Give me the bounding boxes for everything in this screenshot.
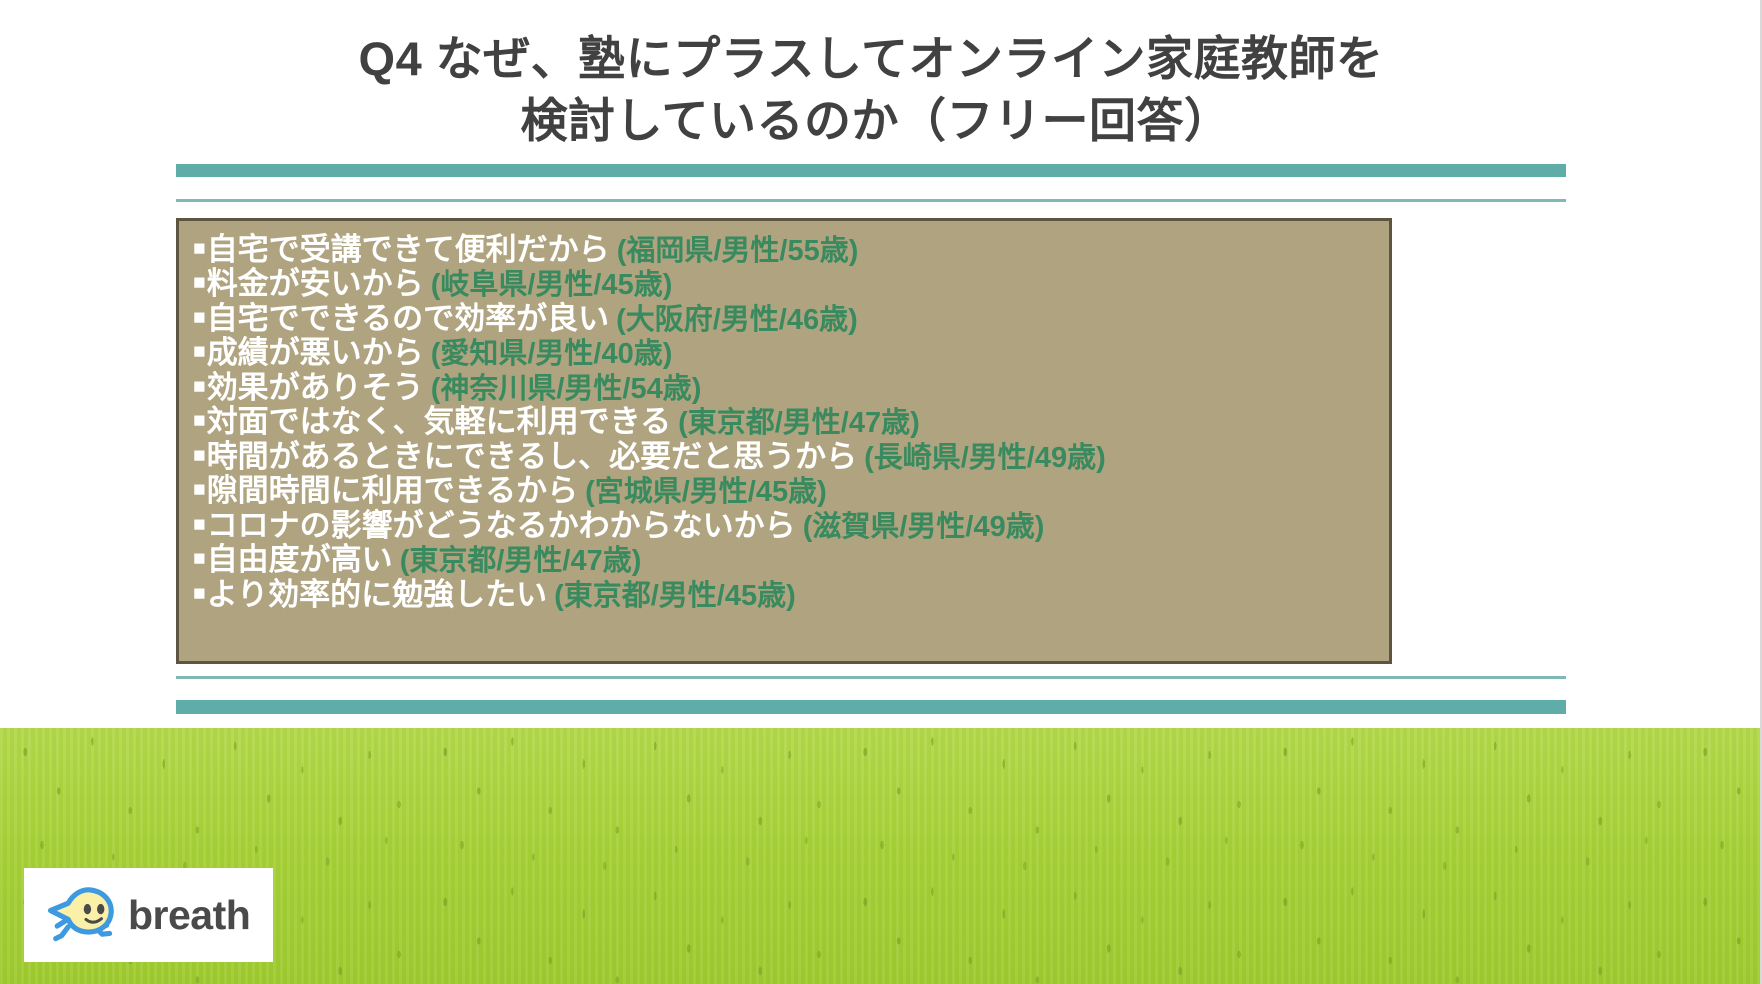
breath-mascot-icon — [46, 884, 120, 946]
list-item: ■より効率的に勉強したい(東京都/男性/45歳) — [193, 578, 1389, 612]
divider-bottom-thick — [176, 700, 1566, 714]
divider-top-thin — [176, 199, 1566, 202]
answer-respondent: (岐阜県/男性/45歳) — [431, 269, 673, 301]
answer-text: 効果がありそう — [207, 370, 424, 405]
answer-text: 自宅で受講できて便利だから — [207, 232, 610, 267]
list-item: ■自宅で受講できて便利だから(福岡県/男性/55歳) — [193, 233, 1389, 267]
page-title: Q4 なぜ、塾にプラスしてオンライン家庭教師を 検討しているのか（フリー回答） — [176, 28, 1566, 152]
square-bullet-icon: ■ — [193, 547, 206, 570]
answer-text: 自由度が高い — [207, 542, 393, 577]
list-item: ■自由度が高い(東京都/男性/47歳) — [193, 543, 1389, 577]
answer-text: 自宅でできるので効率が良い — [207, 301, 609, 336]
list-item: ■時間があるときにできるし、必要だと思うから(長崎県/男性/49歳) — [193, 440, 1389, 474]
answer-text: 対面ではなく、気軽に利用できる — [207, 404, 671, 439]
page-title-line-1: Q4 なぜ、塾にプラスしてオンライン家庭教師を — [176, 28, 1566, 90]
list-item: ■隙間時間に利用できるから(宮城県/男性/45歳) — [193, 474, 1389, 508]
answer-respondent: (大阪府/男性/46歳) — [616, 304, 858, 336]
answer-text: コロナの影響がどうなるかわからないから — [207, 508, 796, 543]
square-bullet-icon: ■ — [193, 340, 206, 363]
answer-text: 隙間時間に利用できるから — [207, 473, 578, 508]
answer-text: 成績が悪いから — [207, 335, 424, 370]
answer-respondent: (東京都/男性/45歳) — [554, 580, 796, 612]
answer-respondent: (東京都/男性/47歳) — [400, 545, 642, 577]
slide-canvas: Q4 なぜ、塾にプラスしてオンライン家庭教師を 検討しているのか（フリー回答） … — [0, 0, 1762, 984]
answer-respondent: (神奈川県/男性/54歳) — [431, 373, 702, 405]
answer-respondent: (長崎県/男性/49歳) — [864, 442, 1106, 474]
answer-text: より効率的に勉強したい — [207, 577, 547, 612]
square-bullet-icon: ■ — [193, 375, 206, 398]
square-bullet-icon: ■ — [193, 306, 206, 329]
divider-bottom-thin — [176, 676, 1566, 679]
divider-top-thick — [176, 164, 1566, 177]
list-item: ■成績が悪いから(愛知県/男性/40歳) — [193, 336, 1389, 370]
list-item: ■自宅でできるので効率が良い(大阪府/男性/46歳) — [193, 302, 1389, 336]
list-item: ■料金が安いから(岐阜県/男性/45歳) — [193, 267, 1389, 301]
list-item: ■コロナの影響がどうなるかわからないから(滋賀県/男性/49歳) — [193, 509, 1389, 543]
square-bullet-icon: ■ — [193, 513, 206, 536]
brand-logo: breath — [24, 868, 273, 962]
list-item: ■効果がありそう(神奈川県/男性/54歳) — [193, 371, 1389, 405]
answer-respondent: (滋賀県/男性/49歳) — [803, 511, 1045, 543]
square-bullet-icon: ■ — [193, 444, 206, 467]
answer-respondent: (宮城県/男性/45歳) — [585, 476, 827, 508]
answer-text: 料金が安いから — [207, 266, 424, 301]
square-bullet-icon: ■ — [193, 409, 206, 432]
page-title-line-2: 検討しているのか（フリー回答） — [176, 90, 1566, 152]
answer-text: 時間があるときにできるし、必要だと思うから — [207, 439, 857, 474]
answer-respondent: (福岡県/男性/55歳) — [617, 235, 859, 267]
brand-wordmark: breath — [128, 895, 250, 936]
square-bullet-icon: ■ — [193, 478, 206, 501]
square-bullet-icon: ■ — [193, 237, 206, 260]
square-bullet-icon: ■ — [193, 582, 206, 605]
square-bullet-icon: ■ — [193, 271, 206, 294]
answer-respondent: (東京都/男性/47歳) — [678, 407, 920, 439]
answer-respondent: (愛知県/男性/40歳) — [431, 338, 673, 370]
free-answer-box: ■自宅で受講できて便利だから(福岡県/男性/55歳) ■料金が安いから(岐阜県/… — [176, 218, 1392, 664]
list-item: ■対面ではなく、気軽に利用できる(東京都/男性/47歳) — [193, 405, 1389, 439]
